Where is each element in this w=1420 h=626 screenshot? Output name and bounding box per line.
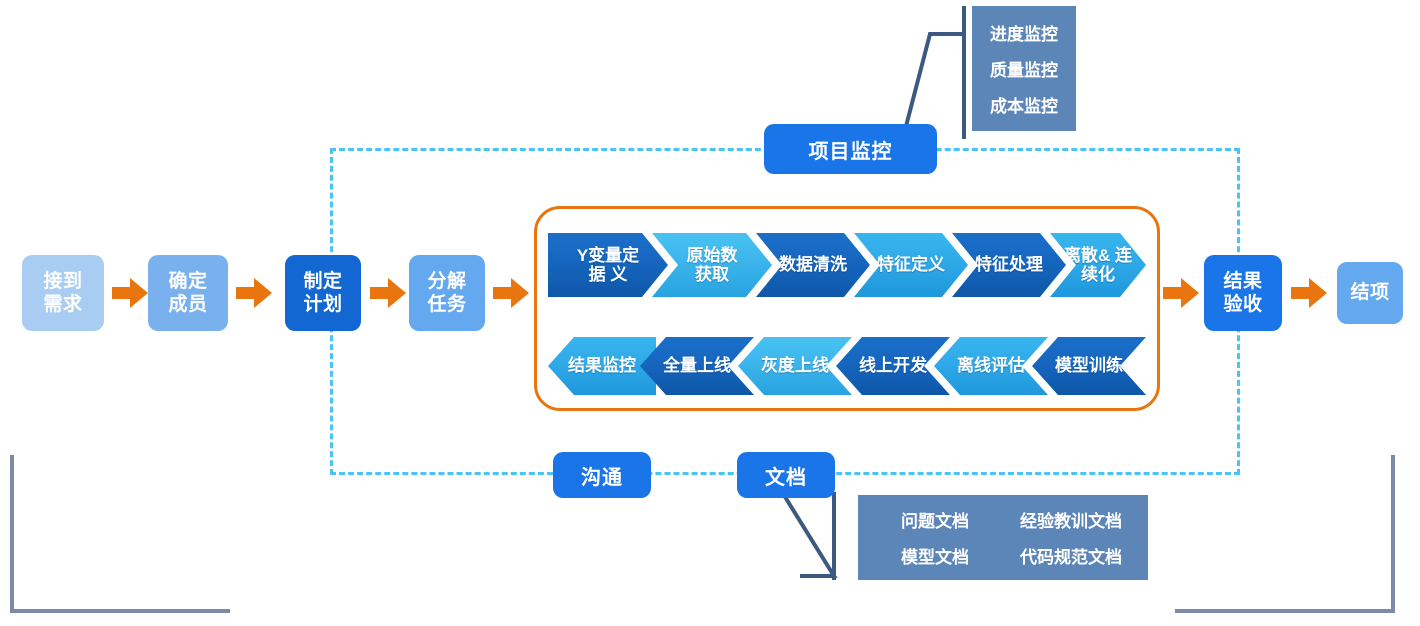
chev-offline-evaluation[interactable]: 离线评估 bbox=[934, 337, 1048, 395]
bracket-bottom-left bbox=[10, 455, 230, 613]
chev-raw-data-acquisition[interactable]: 原始数 获取 bbox=[652, 233, 772, 297]
chev-online-development[interactable]: 线上开发 bbox=[836, 337, 950, 395]
flow-arrow-5 bbox=[1163, 278, 1199, 308]
chev-full-launch[interactable]: 全量上线 bbox=[640, 337, 754, 395]
documents-panel-row: 问题文档 经验教训文档 bbox=[858, 501, 1148, 537]
stage-box-result-acceptance[interactable]: 结果 验收 bbox=[1204, 255, 1282, 331]
stage-box-decompose-tasks[interactable]: 分解 任务 bbox=[409, 255, 485, 331]
stage-box-make-plan[interactable]: 制定 计划 bbox=[285, 255, 361, 331]
documents-panel-row: 模型文档 代码规范文档 bbox=[858, 537, 1148, 573]
diagram-canvas: 接到 需求 确定 成员 制定 计划 分解 任务 结果 验收 结项 Y变量定 据 … bbox=[0, 0, 1420, 626]
document-item-lessons: 经验教训文档 bbox=[1016, 507, 1126, 532]
pipeline-bottom-row: 结果监控 全量上线 灰度上线 线上开发 离线评估 模型训练 bbox=[548, 337, 1146, 395]
flow-arrow-2 bbox=[236, 278, 272, 308]
chev-feature-processing[interactable]: 特征处理 bbox=[952, 233, 1066, 297]
monitor-panel: 进度监控 质量监控 成本监控 bbox=[972, 6, 1076, 131]
stage-box-receive-requirement[interactable]: 接到 需求 bbox=[22, 255, 104, 331]
monitor-item-quality: 质量监控 bbox=[990, 56, 1058, 81]
pill-communication[interactable]: 沟通 bbox=[553, 452, 651, 498]
documents-panel: 问题文档 经验教训文档 模型文档 代码规范文档 bbox=[858, 495, 1148, 580]
flow-arrow-1 bbox=[112, 278, 148, 308]
document-diagonal-connector bbox=[770, 488, 850, 584]
chev-feature-definition[interactable]: 特征定义 bbox=[854, 233, 968, 297]
document-item-issue: 问题文档 bbox=[880, 507, 990, 532]
chev-result-monitoring[interactable]: 结果监控 bbox=[548, 337, 656, 395]
document-item-code-standard: 代码规范文档 bbox=[1016, 543, 1126, 568]
chev-data-cleaning[interactable]: 数据清洗 bbox=[756, 233, 870, 297]
monitor-item-progress: 进度监控 bbox=[990, 20, 1058, 45]
document-item-model: 模型文档 bbox=[880, 543, 990, 568]
monitor-panel-row: 质量监控 bbox=[972, 50, 1076, 86]
pipeline-top-row: Y变量定 据 义 原始数 获取 数据清洗 特征定义 特征处理 离散& 连 续化 bbox=[548, 233, 1146, 297]
flow-arrow-4 bbox=[493, 278, 529, 308]
bracket-bottom-right bbox=[1175, 455, 1395, 613]
chev-model-training[interactable]: 模型训练 bbox=[1032, 337, 1146, 395]
stage-box-project-closure[interactable]: 结项 bbox=[1337, 262, 1403, 324]
flow-arrow-3 bbox=[370, 278, 406, 308]
chev-gray-launch[interactable]: 灰度上线 bbox=[738, 337, 852, 395]
monitor-item-cost: 成本监控 bbox=[990, 92, 1058, 117]
flow-arrow-6 bbox=[1291, 278, 1327, 308]
pill-project-monitoring[interactable]: 项目监控 bbox=[764, 124, 937, 174]
monitor-panel-row: 进度监控 bbox=[972, 14, 1076, 50]
pill-document[interactable]: 文档 bbox=[737, 452, 835, 498]
chev-y-variable-definition[interactable]: Y变量定 据 义 bbox=[548, 233, 668, 297]
monitor-panel-row: 成本监控 bbox=[972, 86, 1076, 122]
stage-box-confirm-members[interactable]: 确定 成员 bbox=[148, 255, 228, 331]
